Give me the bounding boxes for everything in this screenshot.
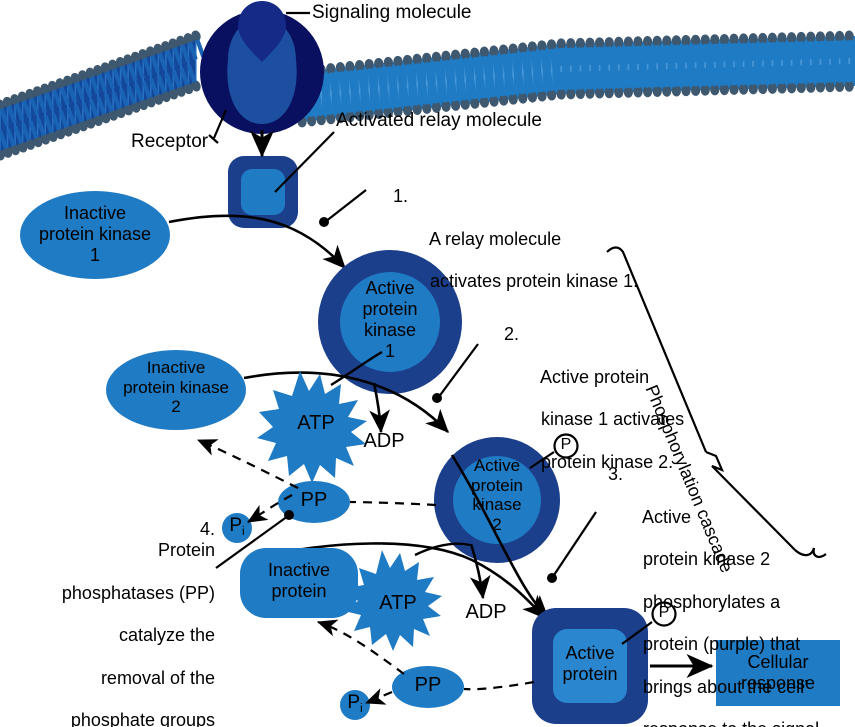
step-3-line-1: Active [642,507,691,527]
leader-step-1 [325,190,366,222]
step-3-line-4: protein (purple) that [643,634,800,654]
leader-dot-step-3 [547,573,557,583]
step-4-line-2: phosphatases (PP) [62,583,215,603]
step-3-line-3: phosphorylates a [643,592,780,612]
step-1-line-2: activates protein kinase 1. [430,271,638,291]
callout-signaling-molecule: Signaling molecule [312,2,472,24]
callout-activated-relay: Activated relay molecule [336,110,542,132]
inactive-protein-kinase-2-shape [106,350,246,430]
atp-star-2-shape [344,550,442,651]
dashed-protein-to-pp2 [464,682,534,689]
step-2-line-1: Active protein [540,367,649,387]
step-1-number: 1. [393,186,408,206]
step-3-number: 3. [608,464,623,484]
step-4-number: 4. [200,519,215,539]
step-1-line-1: A relay molecule [429,229,561,249]
step-4-line-3: catalyze the [119,625,215,645]
step-3-line-6: response to the signal. [643,719,824,727]
leader-receptor-tick [209,135,218,143]
leader-dot-step-2 [432,393,442,403]
leader-dot-step-4 [284,510,294,520]
step-2-number: 2. [504,324,519,344]
step-4-line-1: Protein [158,540,215,560]
callout-receptor: Receptor [131,131,208,153]
dashed-kinase2-to-pp1 [350,502,436,505]
step-3-line-5: brings about the cell’ [643,677,808,697]
dashed-pp2-to-pi2 [366,692,392,703]
inorganic-phosphate-1-shape [222,513,252,543]
atp-star-1-shape [257,371,367,483]
step-3-block: 3. Active protein kinase 2 phosphorylate… [588,443,824,727]
diagram-canvas: Signaling molecule Receptor Activated re… [0,0,855,727]
step-4-block: 4. Protein phosphatases (PP) catalyze th… [10,498,215,727]
inactive-protein-kinase-1-shape [20,191,170,279]
leader-dot-step-1 [319,217,329,227]
receptor-shape [200,1,324,134]
step-4-line-4: removal of the [101,668,215,688]
inorganic-phosphate-2-shape [340,690,370,720]
inactive-protein-shape [240,548,358,618]
step-4-line-5: phosphate groups [71,710,215,727]
